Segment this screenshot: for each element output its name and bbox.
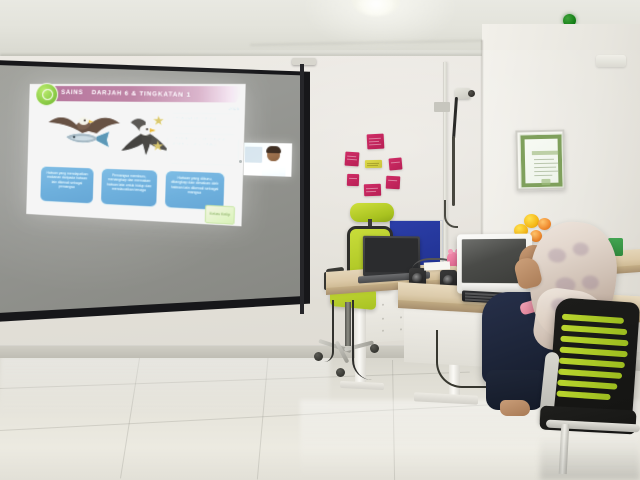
slide-card-2: Pemangsa memburu, menangkap dan memakan … xyxy=(101,169,157,207)
floor-cable xyxy=(324,300,334,362)
slide-subject-label: SAINS xyxy=(61,90,83,96)
green-circle-logo-icon xyxy=(35,83,58,106)
slide-card-3: Haiwan yang diburu, ditangkap dan dimaka… xyxy=(165,171,224,210)
pink-note-2 xyxy=(345,152,360,167)
seated-woman-foot xyxy=(500,400,530,416)
certificate-seal-icon xyxy=(541,179,550,185)
office-chair-headrest xyxy=(350,203,394,222)
camera-cable xyxy=(444,200,458,228)
chair-caster xyxy=(314,352,323,361)
slide-footer-logo: Kelas Kelip xyxy=(205,205,235,225)
projected-slide: SAINS DARJAH 6 & TINGKATAN 1 2025 ★ xyxy=(26,84,245,226)
slide-bullet-box-2: Sebutkan hubungan makanan antara: 1. Ika… xyxy=(166,133,239,166)
logo-inner-ring-icon xyxy=(42,89,53,100)
chair-floor-reflection xyxy=(540,436,640,480)
pink-note-3 xyxy=(389,157,403,170)
video-person-hair xyxy=(266,146,281,153)
slide-card-text-1: Haiwan yang mendapatkan makanan daripada… xyxy=(41,166,94,194)
pink-note-5 xyxy=(386,176,401,190)
camera-lens-icon xyxy=(468,90,475,97)
star-bullet-icon: ★ xyxy=(151,139,166,153)
star-bullet-icon: ★ xyxy=(152,114,167,128)
pink-note-4 xyxy=(347,174,359,186)
slide-card-1: Haiwan yang mendapatkan makanan daripada… xyxy=(40,166,93,203)
toy-ear xyxy=(448,249,453,254)
classroom-photo-scene: SAINS DARJAH 6 & TINGKATAN 1 2025 ★ xyxy=(0,0,640,480)
eagle-with-fish-icon xyxy=(44,106,125,157)
camera-cable xyxy=(452,136,455,206)
chair-gas-cylinder xyxy=(345,302,351,346)
certificate-inner-frame xyxy=(520,135,562,188)
slide-bullet-text-1: Pemangsa dan mangsa xyxy=(168,114,238,126)
slide-bullet-box-1: Pemangsa dan mangsa xyxy=(167,113,240,128)
video-background-panel xyxy=(245,147,263,163)
conduit-bracket xyxy=(434,102,450,112)
remote-participant-video xyxy=(243,143,292,177)
pink-note-6 xyxy=(364,184,381,197)
slide-card-text-3: Haiwan yang diburu, ditangkap dan dimaka… xyxy=(165,171,224,201)
wall-vent xyxy=(596,55,626,67)
desk-paper xyxy=(424,261,450,270)
chair-caster xyxy=(336,368,345,377)
video-indicator-dot xyxy=(239,160,242,163)
slide-page-number: 2025 xyxy=(229,106,239,112)
pink-note-1 xyxy=(367,134,385,150)
slide-card-text-2: Pemangsa memburu, menangkap dan memakan … xyxy=(101,169,157,198)
framed-certificate xyxy=(515,129,565,190)
video-person-body xyxy=(262,160,286,177)
floor-reflection xyxy=(0,356,330,416)
slide-bullet-text-2: Sebutkan hubungan makanan antara: 1. Ika… xyxy=(168,134,239,152)
floor-cable xyxy=(352,300,380,380)
projector-screen-roller xyxy=(292,58,316,65)
projector-screen-side-rail xyxy=(300,64,304,314)
slide-footer-logo-text: Kelas Kelip xyxy=(206,206,234,224)
certificate-header-band xyxy=(532,151,559,156)
yellow-center-note xyxy=(365,160,382,168)
